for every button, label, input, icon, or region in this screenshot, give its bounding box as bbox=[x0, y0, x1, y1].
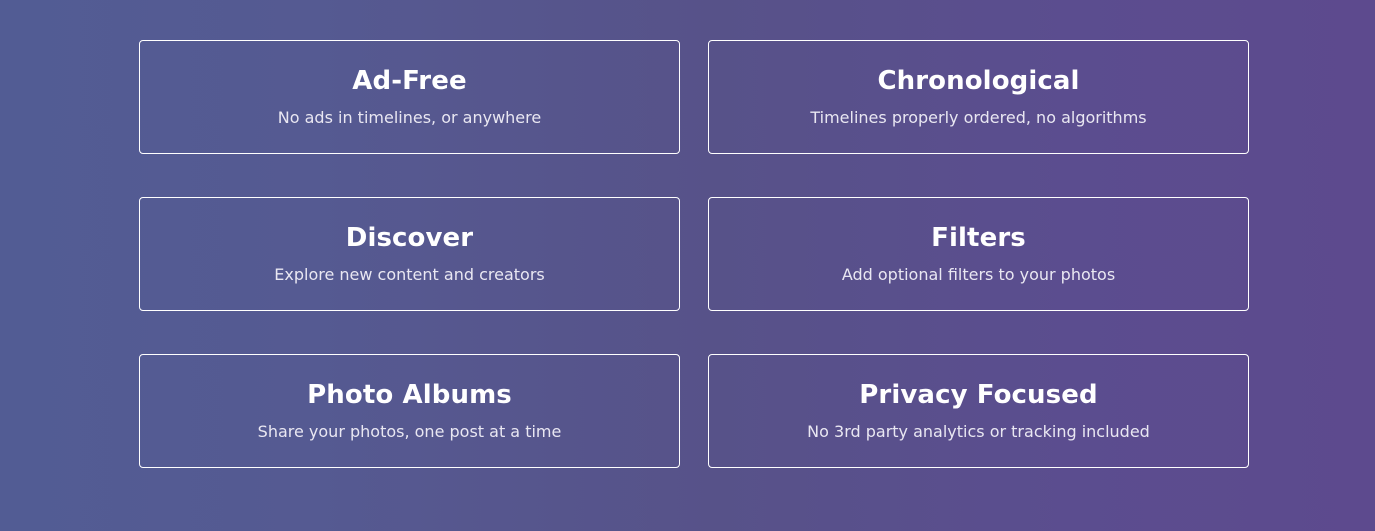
feature-highlights-section: Ad-Free No ads in timelines, or anywhere… bbox=[0, 0, 1375, 531]
feature-card-title: Photo Albums bbox=[307, 381, 512, 411]
feature-card-chronological[interactable]: Chronological Timelines properly ordered… bbox=[708, 40, 1249, 154]
feature-card-discover[interactable]: Discover Explore new content and creator… bbox=[139, 197, 680, 311]
feature-card-subtitle: Add optional filters to your photos bbox=[842, 265, 1115, 284]
feature-card-subtitle: Timelines properly ordered, no algorithm… bbox=[810, 108, 1146, 127]
feature-card-subtitle: Share your photos, one post at a time bbox=[258, 422, 562, 441]
feature-card-grid: Ad-Free No ads in timelines, or anywhere… bbox=[139, 40, 1249, 468]
feature-card-title: Ad-Free bbox=[352, 67, 466, 97]
feature-card-subtitle: No 3rd party analytics or tracking inclu… bbox=[807, 422, 1150, 441]
feature-card-title: Discover bbox=[346, 224, 473, 254]
feature-card-title: Chronological bbox=[877, 67, 1079, 97]
feature-card-subtitle: Explore new content and creators bbox=[274, 265, 544, 284]
feature-card-privacy-focused[interactable]: Privacy Focused No 3rd party analytics o… bbox=[708, 354, 1249, 468]
feature-card-title: Filters bbox=[931, 224, 1026, 254]
feature-card-subtitle: No ads in timelines, or anywhere bbox=[278, 108, 541, 127]
feature-card-photo-albums[interactable]: Photo Albums Share your photos, one post… bbox=[139, 354, 680, 468]
feature-card-filters[interactable]: Filters Add optional filters to your pho… bbox=[708, 197, 1249, 311]
feature-card-title: Privacy Focused bbox=[859, 381, 1097, 411]
feature-card-ad-free[interactable]: Ad-Free No ads in timelines, or anywhere bbox=[139, 40, 680, 154]
